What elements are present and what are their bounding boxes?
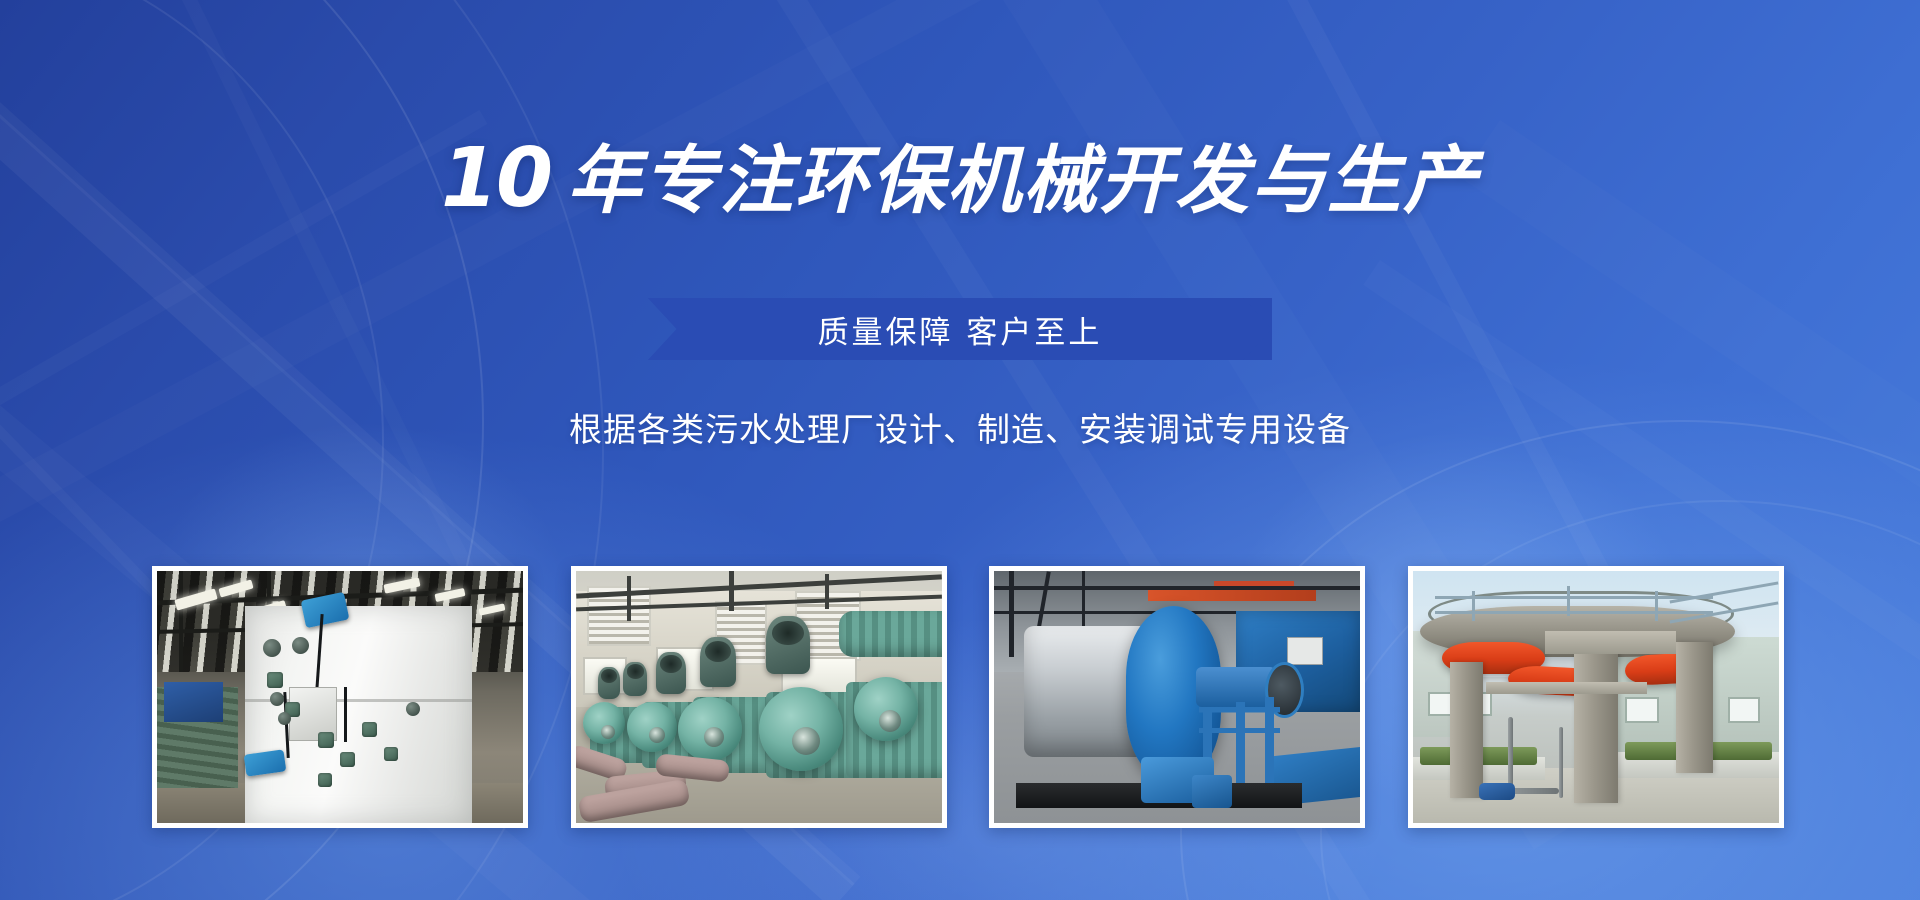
photo-frame-4[interactable]: 圆形沉淀池刮泥机现场 [1408,566,1784,828]
promo-banner: 10年专注环保机械开发与生产 质量保障 客户至上 根据各类污水处理厂设计、制造、… [0,0,1920,900]
photo-circular-clarifier: 圆形沉淀池刮泥机现场 [1413,571,1779,823]
photo-dissolved-air-flotation-unit: 白色气浮设备车间实景 [157,571,523,823]
headline-main-text: 年专注环保机械开发与生产 [567,138,1479,224]
photo-frame-1[interactable]: 白色气浮设备车间实景 [152,566,528,828]
headline-years-number: 10 [441,131,551,226]
photo-rotary-drum-screen: 蓝色转鼓格栅设备 [994,571,1360,823]
photo-roots-blower-room: 罗茨鼓风机组车间实景 [576,571,942,823]
banner-ribbon: 质量保障 客户至上 [648,298,1272,360]
photo-frame-3[interactable]: 蓝色转鼓格栅设备 [989,566,1365,828]
ribbon-slogan: 质量保障 客户至上 [648,298,1272,360]
banner-headline: 10年专注环保机械开发与生产 [0,138,1920,220]
product-photo-strip: 白色气浮设备车间实景 [152,566,1784,828]
photo-frame-2[interactable]: 罗茨鼓风机组车间实景 [571,566,947,828]
banner-subheading: 根据各类污水处理厂设计、制造、安装调试专用设备 [0,403,1920,451]
